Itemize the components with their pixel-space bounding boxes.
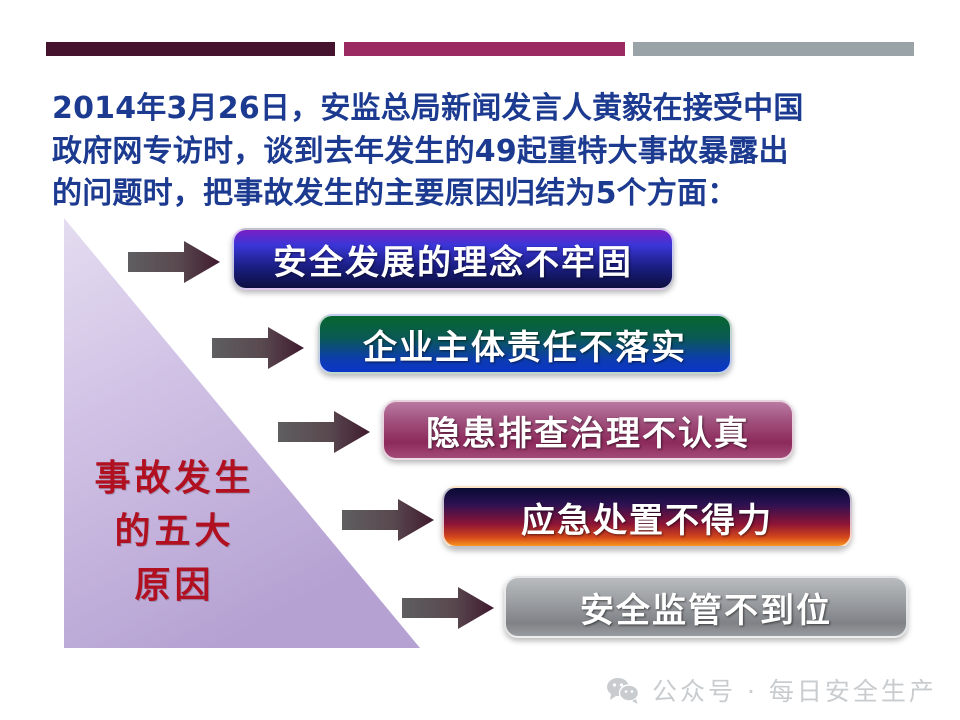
triangle-caption: 事故发生 的五大 原因 <box>62 452 287 612</box>
top-bar-magenta <box>344 42 625 56</box>
top-decoration-bars <box>0 42 960 56</box>
arrow-to-reason-2 <box>212 326 304 370</box>
top-bar-gray <box>633 42 914 56</box>
wechat-icon <box>606 676 640 704</box>
slide-canvas: 2014年3月26日，安监总局新闻发言人黄毅在接受中国 政府网专访时，谈到去年发… <box>0 0 960 720</box>
watermark: 公众号 · 每日安全生产 <box>606 672 937 708</box>
reason-box-1[interactable]: 安全发展的理念不牢固 <box>232 228 674 290</box>
reason-box-4[interactable]: 应急处置不得力 <box>442 486 852 548</box>
reason-box-2[interactable]: 企业主体责任不落实 <box>318 314 732 374</box>
top-bar-dark-plum <box>46 42 335 56</box>
arrow-to-reason-3 <box>278 410 370 454</box>
watermark-text: 公众号 · 每日安全生产 <box>652 672 937 708</box>
arrow-to-reason-4 <box>342 498 434 542</box>
arrow-to-reason-5 <box>402 586 494 630</box>
arrow-to-reason-1 <box>128 240 220 284</box>
headline-paragraph: 2014年3月26日，安监总局新闻发言人黄毅在接受中国 政府网专访时，谈到去年发… <box>52 88 852 216</box>
reason-box-3[interactable]: 隐患排查治理不认真 <box>382 400 794 460</box>
reason-box-5[interactable]: 安全监管不到位 <box>504 576 908 638</box>
